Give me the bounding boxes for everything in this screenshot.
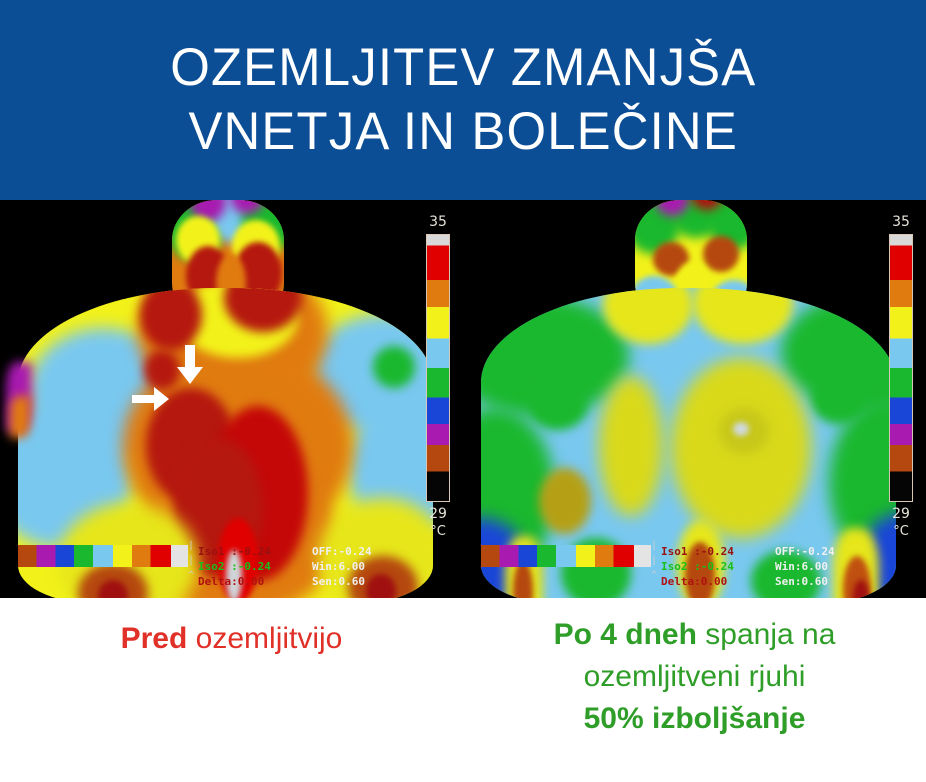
scale-gradient-bar bbox=[889, 234, 913, 502]
temperature-scale-before: 35 29 °C bbox=[426, 214, 450, 539]
readout-win-after: Win:6.00 bbox=[775, 559, 828, 574]
caption-area: Pred ozemljitvijo Po 4 dneh spanja na oz… bbox=[0, 598, 926, 782]
readout-iso1-after: Iso1 :-0.24 bbox=[661, 544, 734, 559]
headline-line-1: OZEMLJITEV ZMANJŠA bbox=[170, 36, 756, 100]
down-arrow-icon bbox=[176, 345, 204, 385]
readout-iso2-after: Iso2 :-0.24 bbox=[661, 559, 734, 574]
caption-after-line1-rest: spanja na bbox=[697, 618, 835, 651]
caption-column-left: Pred ozemljitvijo bbox=[0, 598, 463, 782]
palette-bar-before bbox=[18, 545, 188, 567]
readout-iso2-before: Iso2 :-0.24 bbox=[198, 559, 271, 574]
thermal-body-before bbox=[0, 200, 463, 598]
headline-line-2: VNETJA IN BOLEČINE bbox=[188, 100, 737, 164]
thermal-body-after bbox=[463, 200, 926, 598]
readout-off-after: OFF:-0.24 bbox=[775, 544, 835, 559]
caption-after-bold: Po 4 dneh bbox=[554, 618, 697, 651]
palette-tick-after: ||^ bbox=[651, 538, 657, 583]
scale-unit-label: °C bbox=[889, 524, 913, 539]
caption-after-line-1: Po 4 dneh spanja na bbox=[463, 614, 926, 656]
scale-max-label: 35 bbox=[889, 214, 913, 230]
readout-off-before: OFF:-0.24 bbox=[312, 544, 372, 559]
caption-before-rest: ozemljitvijo bbox=[187, 622, 342, 655]
header-banner: OZEMLJITEV ZMANJŠA VNETJA IN BOLEČINE bbox=[0, 0, 926, 200]
scale-min-label: 29 bbox=[889, 506, 913, 522]
poster-root: OZEMLJITEV ZMANJŠA VNETJA IN BOLEČINE bbox=[0, 0, 926, 782]
caption-column-right: Po 4 dneh spanja na ozemljitveni rjuhi 5… bbox=[463, 598, 926, 782]
thermal-panel-after: 35 29 °C ||^ Iso1 :-0.24 Iso2 :-0.24 Del… bbox=[463, 200, 926, 598]
readout-iso1-before: Iso1 :-0.24 bbox=[198, 544, 271, 559]
palette-bar-after bbox=[481, 545, 651, 567]
palette-tick-before: ||^ bbox=[188, 538, 194, 583]
readout-sen-after: Sen:0.60 bbox=[775, 574, 828, 589]
caption-before: Pred ozemljitvijo bbox=[0, 618, 463, 660]
caption-after-line-3: 50% izboljšanje bbox=[463, 698, 926, 740]
scale-max-label: 35 bbox=[426, 214, 450, 230]
caption-before-bold: Pred bbox=[121, 622, 188, 655]
scale-gradient-bar bbox=[426, 234, 450, 502]
caption-after-line-2: ozemljitveni rjuhi bbox=[463, 656, 926, 698]
caption-after: Po 4 dneh spanja na ozemljitveni rjuhi 5… bbox=[463, 614, 926, 740]
readout-win-before: Win:6.00 bbox=[312, 559, 365, 574]
right-arrow-icon bbox=[132, 386, 170, 412]
readout-sen-before: Sen:0.60 bbox=[312, 574, 365, 589]
scale-unit-label: °C bbox=[426, 524, 450, 539]
left-edge-sliver-warm bbox=[10, 396, 30, 438]
temperature-scale-after: 35 29 °C bbox=[889, 214, 913, 539]
readout-delta-after: Delta:0.00 bbox=[661, 574, 727, 589]
thermal-image-area: 35 29 °C ||^ Iso1 :-0.24 Iso2 :-0.24 Del… bbox=[0, 200, 926, 598]
readout-delta-before: Delta:0.00 bbox=[198, 574, 264, 589]
scale-min-label: 29 bbox=[426, 506, 450, 522]
thermal-panel-before: 35 29 °C ||^ Iso1 :-0.24 Iso2 :-0.24 Del… bbox=[0, 200, 463, 598]
